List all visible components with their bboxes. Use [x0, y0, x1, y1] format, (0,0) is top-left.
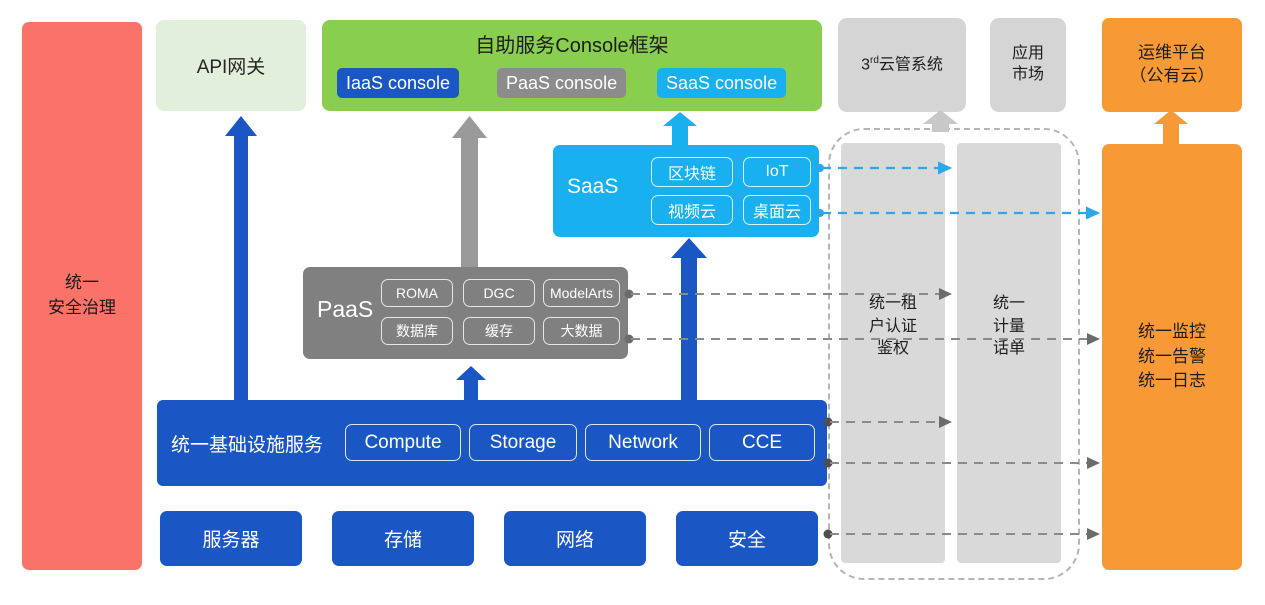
third-party-cloud-mgmt-block: 3rd云管系统 [838, 18, 966, 112]
third-party-superscript: rd [870, 55, 879, 66]
arrow-infra-to-paas [456, 366, 486, 402]
unified-security-governance-block: 统一 安全治理 [22, 22, 142, 570]
console-frame-title: 自助服务Console框架 [322, 29, 822, 58]
saas-console-label: SaaS console [666, 73, 777, 94]
paas-item-cache-label: 缓存 [485, 321, 513, 341]
saas-item-blockchain-label: 区块链 [668, 160, 716, 184]
architecture-diagram: 统一 安全治理 API网关 自助服务Console框架 IaaS console… [0, 0, 1265, 605]
app-market-line-1: 应用 [1012, 44, 1044, 65]
resource-network-label: 网络 [556, 525, 594, 552]
resource-box-network[interactable]: 网络 [504, 511, 646, 566]
arrow-infra-to-saas [671, 238, 707, 402]
paas-console-label: PaaS console [506, 73, 617, 94]
arrow-ops-tall-to-ops-top [1154, 110, 1188, 144]
resource-box-server[interactable]: 服务器 [160, 511, 302, 566]
saas-item-iot[interactable]: IoT [743, 157, 811, 187]
metering-line-3: 话单 [957, 338, 1061, 361]
saas-item-blockchain[interactable]: 区块链 [651, 157, 733, 187]
resource-box-storage[interactable]: 存储 [332, 511, 474, 566]
auth-line-3: 鉴权 [841, 338, 945, 361]
paas-label: PaaS [317, 296, 373, 323]
saas-item-iot-label: IoT [765, 163, 788, 181]
infra-item-network[interactable]: Network [585, 424, 701, 461]
paas-item-bigdata-label: 大数据 [561, 321, 603, 341]
saas-item-video-cloud[interactable]: 视频云 [651, 195, 733, 225]
metering-line-1: 统一 [957, 293, 1061, 316]
paas-item-cache[interactable]: 缓存 [463, 317, 535, 345]
arrow-paas-to-console [452, 116, 487, 267]
saas-item-video-cloud-label: 视频云 [668, 198, 716, 222]
resource-security-label: 安全 [728, 525, 766, 552]
infra-item-storage[interactable]: Storage [469, 424, 577, 461]
third-party-prefix: 3 [861, 56, 870, 73]
monitoring-line-2: 统一告警 [1138, 345, 1206, 370]
metering-line-2: 计量 [957, 316, 1061, 339]
paas-item-database-label: 数据库 [396, 321, 438, 341]
resource-box-security[interactable]: 安全 [676, 511, 818, 566]
infra-item-storage-label: Storage [490, 432, 557, 454]
iaas-console-chip[interactable]: IaaS console [337, 68, 459, 98]
ops-platform-line-1: 运维平台 [1130, 42, 1215, 65]
api-gateway-block: API网关 [156, 20, 306, 111]
auth-line-2: 户认证 [841, 316, 945, 339]
saas-label: SaaS [567, 175, 618, 199]
app-market-block: 应用 市场 [990, 18, 1066, 112]
unified-metering-billing-column: 统一 计量 话单 [957, 143, 1061, 563]
security-line-2: 安全治理 [48, 296, 116, 321]
resource-server-label: 服务器 [202, 525, 259, 552]
saas-console-chip[interactable]: SaaS console [657, 68, 786, 98]
saas-block: SaaS 区块链 IoT 视频云 桌面云 [553, 145, 819, 237]
paas-item-modelarts[interactable]: ModelArts [543, 279, 620, 307]
infrastructure-label: 统一基础设施服务 [171, 430, 323, 457]
paas-item-dgc-label: DGC [483, 285, 514, 301]
self-service-console-frame: 自助服务Console框架 IaaS console PaaS console … [322, 20, 822, 111]
iaas-console-label: IaaS console [346, 73, 450, 94]
infra-item-compute[interactable]: Compute [345, 424, 461, 461]
saas-item-desktop-cloud-label: 桌面云 [753, 198, 801, 222]
paas-block: PaaS ROMA DGC ModelArts 数据库 缓存 大数据 [303, 267, 628, 359]
unified-monitoring-block: 统一监控 统一告警 统一日志 [1102, 144, 1242, 570]
arrow-infra-to-api-gateway [225, 116, 257, 400]
unified-tenant-auth-column: 统一租 户认证 鉴权 [841, 143, 945, 563]
arrow-saas-to-console [663, 112, 697, 146]
paas-console-chip[interactable]: PaaS console [497, 68, 626, 98]
auth-line-1: 统一租 [841, 293, 945, 316]
paas-item-bigdata[interactable]: 大数据 [543, 317, 620, 345]
ops-platform-line-2: （公有云） [1130, 65, 1215, 88]
infra-item-compute-label: Compute [364, 432, 441, 454]
infra-item-network-label: Network [608, 432, 678, 454]
paas-item-roma[interactable]: ROMA [381, 279, 453, 307]
resource-storage-label: 存储 [384, 525, 422, 552]
ops-platform-public-cloud-block: 运维平台 （公有云） [1102, 18, 1242, 112]
paas-item-dgc[interactable]: DGC [463, 279, 535, 307]
security-line-1: 统一 [48, 271, 116, 296]
infra-item-cce[interactable]: CCE [709, 424, 815, 461]
monitoring-line-3: 统一日志 [1138, 369, 1206, 394]
paas-item-database[interactable]: 数据库 [381, 317, 453, 345]
third-party-suffix: 云管系统 [879, 56, 943, 73]
paas-item-roma-label: ROMA [396, 285, 438, 301]
infra-item-cce-label: CCE [742, 432, 782, 454]
unified-infrastructure-block: 统一基础设施服务 Compute Storage Network CCE [157, 400, 827, 486]
app-market-line-2: 市场 [1012, 65, 1044, 86]
saas-item-desktop-cloud[interactable]: 桌面云 [743, 195, 811, 225]
paas-item-modelarts-label: ModelArts [550, 285, 613, 301]
api-gateway-label: API网关 [197, 52, 266, 79]
monitoring-line-1: 统一监控 [1138, 320, 1206, 345]
